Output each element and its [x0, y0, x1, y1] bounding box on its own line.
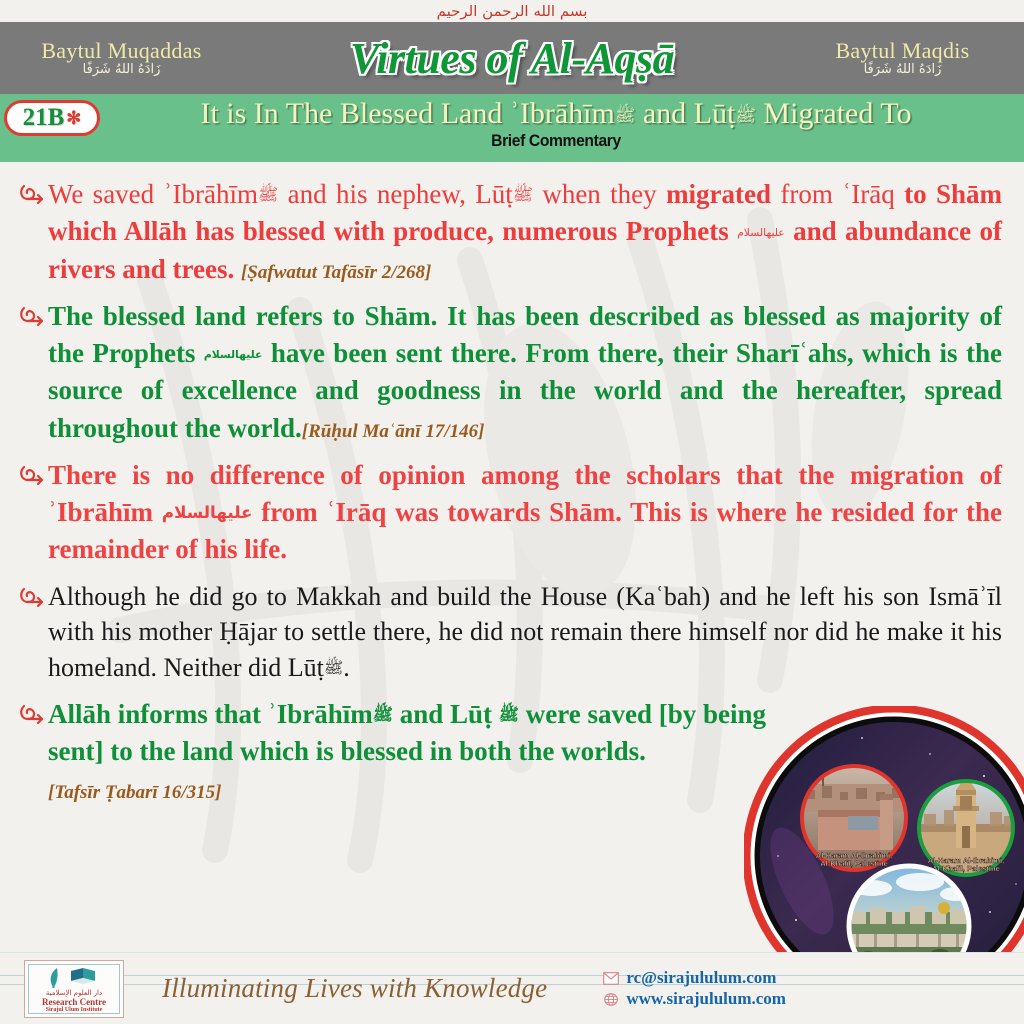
citation: [Rūḥul Maʿānī 17/146]: [302, 421, 485, 442]
bullet-waw-icon: [18, 696, 48, 728]
envelope-icon: [603, 972, 619, 985]
commentary-item: There is no difference of opinion among …: [18, 457, 1002, 569]
text-seg: and Lūṭ: [393, 699, 499, 729]
text-seg: when they: [533, 179, 666, 209]
right-side-heading: Baytul Maqdis زَادَهُ اللهُ شَرَفًا: [795, 39, 1010, 77]
bismillah-bar: بسم الله الرحمن الرحيم: [0, 0, 1024, 22]
text-seg: Although he did go to Makkah and build t…: [48, 582, 1002, 683]
section-number: 21B: [23, 104, 65, 132]
tagline: Illuminating Lives with Knowledge: [162, 973, 547, 1004]
section-heading-part-2: and Lūṭ: [635, 97, 735, 130]
section-heading-part-1: It is In The Blessed Land ʾIbrāhīm: [200, 97, 614, 130]
asterisk-icon: ✻: [66, 109, 81, 127]
email-text: rc@sirajululum.com: [626, 968, 776, 988]
left-side-heading: Baytul Muqaddas زَادَهُ اللهُ شَرَفًا: [14, 39, 229, 77]
text-seg: .: [343, 653, 350, 682]
logo-name: Research Centre: [42, 998, 106, 1007]
website-row[interactable]: www.sirajululum.com: [603, 989, 786, 1009]
section-heading-band: 21B ✻ It is In The Blessed Land ʾIbrāhīm…: [0, 94, 1024, 162]
globe-icon: [603, 993, 619, 1006]
section-heading-part-3: Migrated To: [756, 97, 912, 130]
right-side-heading-latin: Baytul Maqdis: [795, 39, 1010, 62]
honorific-icon: ﷺ: [324, 658, 343, 677]
email-row[interactable]: rc@sirajululum.com: [603, 968, 786, 988]
honorific-icon: عليهالسلام: [204, 350, 263, 360]
left-side-heading-latin: Baytul Muqaddas: [14, 39, 229, 62]
text-seg-bold: migrated: [666, 179, 771, 209]
photo-caption: Al-Khalil, Palestine: [932, 864, 1000, 873]
commentary-text: Allāh informs that ʾIbrāhīmﷺ and Lūṭ ﷺ w…: [48, 696, 778, 808]
commentary-item: The blessed land refers to Shām. It has …: [18, 298, 1002, 447]
left-side-heading-arabic: زَادَهُ اللهُ شَرَفًا: [14, 63, 229, 77]
section-number-badge: 21B ✻: [4, 100, 100, 136]
commentary-text: The blessed land refers to Shām. It has …: [48, 298, 1002, 447]
footer: دار العلوم الإسلامية Research Centre Sir…: [0, 952, 1024, 1024]
honorific-icon: ﷺ: [615, 106, 636, 126]
bullet-waw-icon: [18, 298, 48, 330]
commentary-item: Although he did go to Makkah and build t…: [18, 579, 1002, 687]
website-text: www.sirajululum.com: [626, 989, 786, 1009]
bullet-waw-icon: [18, 579, 48, 611]
commentary-item: Allāh informs that ʾIbrāhīmﷺ and Lūṭ ﷺ w…: [18, 696, 778, 808]
text-seg: Allāh informs that ʾIbrāhīm: [48, 699, 373, 729]
page-title: Virtues of Al-Aqṣā: [229, 33, 795, 84]
honorific-icon: ﷺ: [513, 184, 533, 204]
honorific-icon: عليهالسلام: [737, 228, 785, 238]
photo-thumbnail: Al-Haram Al-Ibrahimi, Al-Khalil, Palesti…: [802, 766, 906, 870]
section-subtitle: Brief Commentary: [146, 131, 967, 151]
honorific-icon: ﷺ: [373, 704, 393, 724]
organisation-logo: دار العلوم الإسلامية Research Centre Sir…: [24, 960, 124, 1018]
contact-details: rc@sirajululum.com www.sirajululum.com: [603, 968, 786, 1009]
commentary-text: Although he did go to Makkah and build t…: [48, 579, 1002, 687]
text-seg: from ʿIrāq: [771, 179, 904, 209]
text-seg: We saved ʾIbrāhīm: [48, 179, 258, 209]
honorific-icon: ﷺ: [735, 106, 756, 126]
right-side-heading-arabic: زَادَهُ اللهُ شَرَفًا: [795, 63, 1010, 77]
commentary-item: We saved ʾIbrāhīmﷺ and his nephew, Lūṭﷺ …: [18, 176, 1002, 288]
logo-subtitle: Sirajul Ulum Institute: [46, 1007, 103, 1013]
text-seg: and his nephew, Lūṭ: [278, 179, 512, 209]
bullet-waw-icon: [18, 176, 48, 208]
section-heading-text: It is In The Blessed Land ʾIbrāhīmﷺ and …: [110, 98, 1002, 130]
honorific-icon: ﷺ: [258, 184, 278, 204]
citation: [Tafsīr Ṭabarī 16/315]: [48, 782, 221, 803]
commentary-text: There is no difference of opinion among …: [48, 457, 1002, 569]
bismillah-text: بسم الله الرحمن الرحيم: [437, 2, 588, 19]
honorific-icon: ﷺ: [499, 704, 519, 724]
bullet-waw-icon: [18, 457, 48, 489]
honorific-icon: عليهالسلام: [162, 502, 253, 522]
logo-arabic: دار العلوم الإسلامية: [46, 989, 102, 997]
commentary-text: We saved ʾIbrāhīmﷺ and his nephew, Lūṭﷺ …: [48, 176, 1002, 288]
photo-caption: Al-Khalil, Palestine: [820, 859, 888, 868]
title-bar: Baytul Muqaddas زَادَهُ اللهُ شَرَفًا Vi…: [0, 22, 1024, 94]
citation: [Ṣafwatut Tafāsīr 2/268]: [241, 262, 431, 283]
